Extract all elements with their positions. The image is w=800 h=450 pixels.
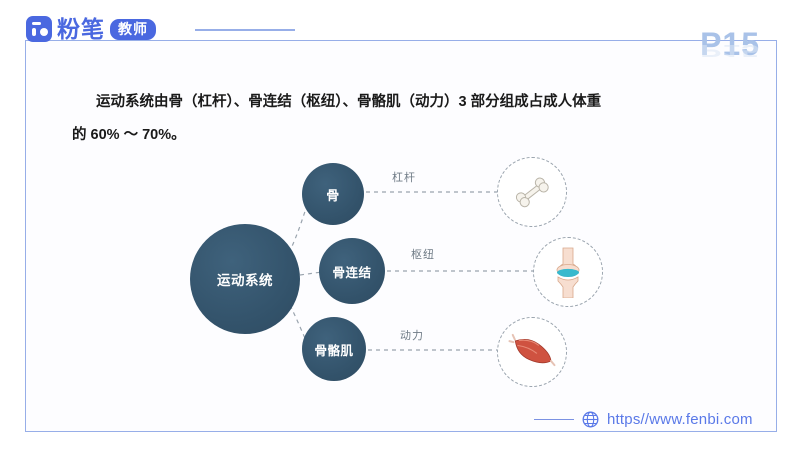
footer-divider <box>534 419 574 420</box>
system-diagram: 运动系统 骨 骨连结 骨骼肌 杠杆 枢纽 动力 <box>0 0 800 450</box>
footer: https//www.fenbi.com <box>534 411 753 428</box>
connector-label-lever: 杠杆 <box>392 169 416 185</box>
slide-canvas: 粉笔 教师 P15 P15 运动系统由骨（杠杆）、骨连结（枢纽）、骨骼肌（动力）… <box>0 0 800 450</box>
connector-label-pivot: 枢纽 <box>411 246 435 262</box>
diagram-node-joint[interactable]: 骨连结 <box>319 238 385 304</box>
diagram-node-root-label: 运动系统 <box>217 269 273 289</box>
connector-label-power: 动力 <box>400 327 424 343</box>
illustration-circle-muscle <box>497 317 567 387</box>
diagram-node-root[interactable]: 运动系统 <box>190 224 300 334</box>
muscle-illustration <box>507 330 557 374</box>
bone-illustration <box>509 169 555 215</box>
diagram-node-bone[interactable]: 骨 <box>302 163 364 225</box>
diagram-node-muscle-label: 骨骼肌 <box>314 340 353 359</box>
illustration-circle-bone <box>497 157 567 227</box>
diagram-node-joint-label: 骨连结 <box>332 262 371 281</box>
footer-url[interactable]: https//www.fenbi.com <box>607 411 753 428</box>
diagram-node-bone-label: 骨 <box>326 185 340 204</box>
illustration-circle-joint <box>533 237 603 307</box>
globe-icon <box>582 411 599 428</box>
diagram-connectors <box>0 0 800 450</box>
knee-joint-illustration <box>546 246 590 298</box>
diagram-node-muscle[interactable]: 骨骼肌 <box>302 317 366 381</box>
